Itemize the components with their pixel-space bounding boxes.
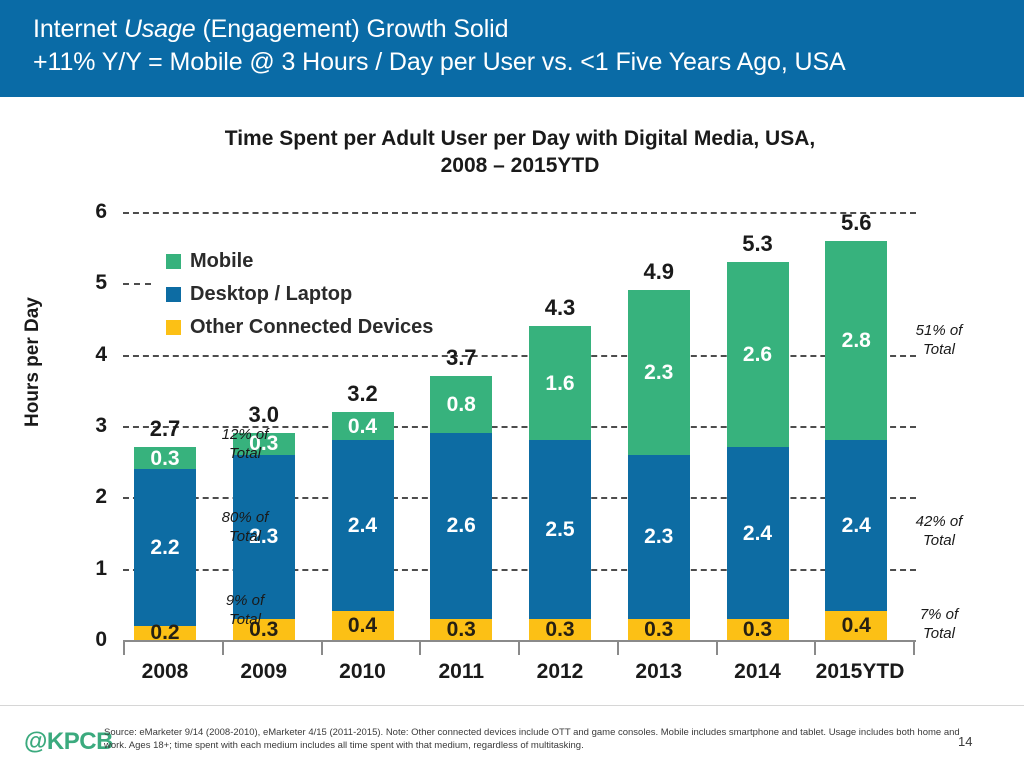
bar-segment-other-2011[interactable]: 0.3	[430, 619, 492, 640]
annotation-other-share-2015ytd: 7% of Total	[893, 605, 985, 643]
x-tick-3	[419, 640, 421, 655]
y-tick-label-5: 5	[95, 271, 107, 295]
y-tick-label-1: 1	[95, 557, 107, 581]
y-tick-label-4: 4	[95, 343, 107, 367]
bar-segment-value: 0.8	[447, 394, 476, 415]
annotation-line-1: 7% of	[893, 605, 985, 624]
bar-segment-desktop-2011[interactable]: 2.6	[430, 433, 492, 618]
footnote-source-text: Source: eMarketer 9/14 (2008-2010), eMar…	[104, 726, 964, 752]
annotation-line-2: Total	[893, 531, 985, 550]
annotation-line-2: Total	[893, 624, 985, 643]
annotation-line-1: 12% of	[199, 425, 291, 444]
bar-total-label-2008: 2.7	[150, 416, 181, 442]
annotation-desktop-share-2008: 80% of Total	[199, 508, 291, 546]
bar-segment-desktop-2014[interactable]: 2.4	[727, 447, 789, 618]
annotation-line-2: Total	[199, 527, 291, 546]
x-tick-label-2014: 2014	[734, 660, 781, 684]
x-tick-6	[716, 640, 718, 655]
header-title-line-2: +11% Y/Y = Mobile @ 3 Hours / Day per Us…	[33, 46, 1024, 79]
bar-total-label-2012: 4.3	[545, 295, 576, 321]
y-tick-label-0: 0	[95, 628, 107, 652]
bar-segment-value: 0.2	[150, 622, 179, 643]
x-tick-label-2015ytd: 2015YTD	[816, 660, 905, 684]
bar-segment-other-2014[interactable]: 0.3	[727, 619, 789, 640]
gridline-6	[123, 212, 916, 214]
legend-label-mobile: Mobile	[190, 250, 253, 273]
bar-group-2013[interactable]: 4.9 2.3 2.3 0.3	[628, 290, 690, 640]
bar-segment-value: 2.6	[743, 344, 772, 365]
y-axis-title: Hours per Day	[22, 297, 44, 427]
annotation-line-2: Total	[199, 444, 291, 463]
bar-segment-value: 0.4	[348, 615, 377, 636]
header-title-line-1: Internet Usage (Engagement) Growth Solid	[33, 13, 1024, 46]
y-tick-label-3: 3	[95, 414, 107, 438]
bar-segment-mobile-2010[interactable]: 0.4	[332, 412, 394, 441]
bar-group-2010[interactable]: 3.2 0.4 2.4 0.4	[332, 412, 394, 640]
bar-total-label-2015ytd: 5.6	[841, 210, 872, 236]
bar-segment-desktop-2015ytd[interactable]: 2.4	[825, 440, 887, 611]
bar-segment-value: 0.3	[150, 448, 179, 469]
bar-total-label-2010: 3.2	[347, 381, 378, 407]
bar-segment-desktop-2008[interactable]: 2.2	[134, 469, 196, 626]
x-tick-label-2008: 2008	[142, 660, 189, 684]
bar-segment-value: 1.6	[545, 373, 574, 394]
bar-segment-other-2010[interactable]: 0.4	[332, 611, 394, 640]
bar-group-2008[interactable]: 2.7 0.3 2.2 0.2	[134, 447, 196, 640]
x-tick-4	[518, 640, 520, 655]
footer: @KPCB Source: eMarketer 9/14 (2008-2010)…	[0, 705, 1024, 769]
bar-segment-value: 2.5	[545, 519, 574, 540]
gridline-5	[123, 283, 151, 285]
bar-segment-desktop-2013[interactable]: 2.3	[628, 455, 690, 619]
bar-segment-value: 0.3	[743, 619, 772, 640]
bar-segment-value: 2.6	[447, 515, 476, 536]
legend-swatch-desktop-icon	[166, 287, 181, 302]
bar-total-label-2011: 3.7	[446, 345, 477, 371]
bar-segment-value: 2.4	[743, 523, 772, 544]
chart-region: Time Spent per Adult User per Day with D…	[0, 97, 1024, 705]
chart-title-line-2: 2008 – 2015YTD	[120, 152, 920, 179]
header-banner: Internet Usage (Engagement) Growth Solid…	[0, 0, 1024, 97]
annotation-desktop-share-2015ytd: 42% of Total	[893, 512, 985, 550]
x-tick-label-2013: 2013	[635, 660, 682, 684]
header-title-part-italic: Usage	[124, 15, 196, 43]
bar-segment-value: 0.4	[348, 416, 377, 437]
annotation-line-2: Total	[893, 340, 985, 359]
bar-segment-value: 2.3	[644, 362, 673, 383]
bar-segment-value: 0.3	[545, 619, 574, 640]
legend-label-other: Other Connected Devices	[190, 316, 433, 339]
y-tick-label-2: 2	[95, 485, 107, 509]
legend-item-desktop[interactable]: Desktop / Laptop	[166, 278, 433, 311]
annotation-line-1: 51% of	[893, 321, 985, 340]
bar-segment-mobile-2013[interactable]: 2.3	[628, 290, 690, 454]
bar-group-2012[interactable]: 4.3 1.6 2.5 0.3	[529, 326, 591, 640]
x-tick-label-2009: 2009	[240, 660, 287, 684]
bar-segment-mobile-2011[interactable]: 0.8	[430, 376, 492, 433]
bar-total-label-2013: 4.9	[643, 259, 674, 285]
legend-swatch-other-icon	[166, 320, 181, 335]
bar-segment-value: 2.4	[842, 515, 871, 536]
bar-segment-desktop-2012[interactable]: 2.5	[529, 440, 591, 618]
header-title-part-post: (Engagement) Growth Solid	[196, 15, 509, 43]
bar-segment-value: 0.4	[842, 615, 871, 636]
bar-segment-mobile-2008[interactable]: 0.3	[134, 447, 196, 468]
legend-label-desktop: Desktop / Laptop	[190, 283, 352, 306]
x-tick-label-2011: 2011	[438, 660, 484, 684]
bar-segment-value: 2.8	[842, 330, 871, 351]
bar-segment-value: 0.3	[644, 619, 673, 640]
bar-segment-mobile-2015ytd[interactable]: 2.8	[825, 241, 887, 441]
annotation-line-1: 80% of	[199, 508, 291, 527]
bar-segment-mobile-2014[interactable]: 2.6	[727, 262, 789, 447]
chart-title: Time Spent per Adult User per Day with D…	[120, 125, 920, 179]
annotation-line-2: Total	[199, 610, 291, 629]
chart-legend: Mobile Desktop / Laptop Other Connected …	[166, 245, 433, 344]
bar-segment-value: 2.4	[348, 515, 377, 536]
annotation-mobile-share-2015ytd: 51% of Total	[893, 321, 985, 359]
bar-segment-desktop-2010[interactable]: 2.4	[332, 440, 394, 611]
chart-title-line-1: Time Spent per Adult User per Day with D…	[120, 125, 920, 152]
x-tick-0	[123, 640, 125, 655]
bar-segment-other-2015ytd[interactable]: 0.4	[825, 611, 887, 640]
bar-segment-value: 0.3	[447, 619, 476, 640]
bar-segment-other-2008[interactable]: 0.2	[134, 626, 196, 640]
x-tick-5	[617, 640, 619, 655]
bar-group-2015ytd[interactable]: 5.6 2.8 2.4 0.4	[825, 241, 887, 640]
bar-group-2014[interactable]: 5.3 2.6 2.4 0.3	[727, 262, 789, 640]
x-tick-7	[814, 640, 816, 655]
header-title-part-pre: Internet	[33, 15, 124, 43]
page-number: 14	[958, 734, 972, 749]
bar-group-2011[interactable]: 3.7 0.8 2.6 0.3	[430, 376, 492, 640]
x-tick-2	[321, 640, 323, 655]
annotation-line-1: 42% of	[893, 512, 985, 531]
gridline-4	[123, 355, 916, 357]
bar-total-label-2014: 5.3	[742, 231, 773, 257]
x-tick-1	[222, 640, 224, 655]
annotation-other-share-2008: 9% of Total	[199, 591, 291, 629]
kpcb-logo: @KPCB	[24, 728, 113, 756]
legend-item-other[interactable]: Other Connected Devices	[166, 311, 433, 344]
bar-segment-mobile-2012[interactable]: 1.6	[529, 326, 591, 440]
bar-segment-value: 2.3	[644, 526, 673, 547]
bar-segment-other-2012[interactable]: 0.3	[529, 619, 591, 640]
bar-segment-other-2013[interactable]: 0.3	[628, 619, 690, 640]
bar-segment-value: 2.2	[150, 537, 179, 558]
x-tick-label-2010: 2010	[339, 660, 386, 684]
x-tick-label-2012: 2012	[537, 660, 584, 684]
annotation-line-1: 9% of	[199, 591, 291, 610]
legend-item-mobile[interactable]: Mobile	[166, 245, 433, 278]
annotation-mobile-share-2008: 12% of Total	[199, 425, 291, 463]
legend-swatch-mobile-icon	[166, 254, 181, 269]
y-tick-label-6: 6	[95, 200, 107, 224]
